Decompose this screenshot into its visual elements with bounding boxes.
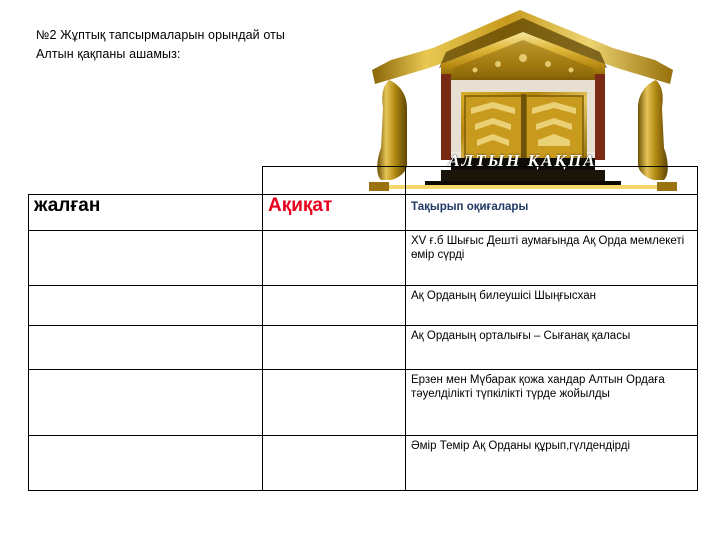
answer-cell-false[interactable] xyxy=(29,326,263,370)
spacer-cell-right xyxy=(406,167,698,195)
answer-cell-true[interactable] xyxy=(263,326,406,370)
topic-cell: XV ғ.б Шығыс Дешті аумағында Ақ Орда мем… xyxy=(406,231,698,286)
table-header-row: жалған Ақиқат Тақырып оқиғалары xyxy=(29,195,698,231)
gate-left-pillar xyxy=(377,80,407,180)
topic-cell: Әмір Темір Ақ Орданы құрып,гүлдендірді xyxy=(406,436,698,491)
heading-line-2: Алтын қақпаны ашамыз: xyxy=(36,45,376,64)
answer-cell-false[interactable] xyxy=(29,436,263,491)
spacer-cell-middle xyxy=(263,167,406,195)
table-row: Әмір Темір Ақ Орданы құрып,гүлдендірді xyxy=(29,436,698,491)
answer-cell-false[interactable] xyxy=(29,370,263,436)
topic-text: Әмір Темір Ақ Орданы құрып,гүлдендірді xyxy=(411,439,692,453)
topic-text: XV ғ.б Шығыс Дешті аумағында Ақ Орда мем… xyxy=(411,234,692,263)
header-label-topic: Тақырып оқиғалары xyxy=(411,196,692,214)
topic-cell: Ерзен мен Мүбарак қожа хандар Алтын Орда… xyxy=(406,370,698,436)
topic-text: Ақ Орданың билеушісі Шыңғысхан xyxy=(411,289,692,303)
spacer-cell-left xyxy=(29,167,263,195)
answer-cell-true[interactable] xyxy=(263,436,406,491)
slide-heading: №2 Жұптық тапсырмаларын орындай оты Алты… xyxy=(36,26,376,65)
answer-cell-true[interactable] xyxy=(263,370,406,436)
header-label-true: Ақиқат xyxy=(268,196,400,216)
header-cell-topic: Тақырып оқиғалары xyxy=(406,195,698,231)
table-spacer-row xyxy=(29,167,698,195)
table-row: Ерзен мен Мүбарак қожа хандар Алтын Орда… xyxy=(29,370,698,436)
slide-canvas: №2 Жұптық тапсырмаларын орындай оты Алты… xyxy=(0,0,720,540)
truth-false-table: жалған Ақиқат Тақырып оқиғалары XV ғ.б Ш… xyxy=(28,166,698,491)
answer-cell-false[interactable] xyxy=(29,231,263,286)
heading-line-1: №2 Жұптық тапсырмаларын орындай оты xyxy=(36,26,376,45)
table-row: XV ғ.б Шығыс Дешті аумағында Ақ Орда мем… xyxy=(29,231,698,286)
answer-cell-true[interactable] xyxy=(263,286,406,326)
topic-cell: Ақ Орданың билеушісі Шыңғысхан xyxy=(406,286,698,326)
topic-cell: Ақ Орданың орталығы – Сығанақ қаласы xyxy=(406,326,698,370)
table-row: Ақ Орданың орталығы – Сығанақ қаласы xyxy=(29,326,698,370)
header-cell-true: Ақиқат xyxy=(263,195,406,231)
gate-right-pillar xyxy=(638,80,668,180)
answer-cell-true[interactable] xyxy=(263,231,406,286)
header-label-false: жалған xyxy=(34,196,257,216)
topic-text: Ерзен мен Мүбарак қожа хандар Алтын Орда… xyxy=(411,373,692,402)
header-cell-false: жалған xyxy=(29,195,263,231)
table-row: Ақ Орданың билеушісі Шыңғысхан xyxy=(29,286,698,326)
answer-cell-false[interactable] xyxy=(29,286,263,326)
topic-text: Ақ Орданың орталығы – Сығанақ қаласы xyxy=(411,329,692,343)
truth-false-table-wrapper: жалған Ақиқат Тақырып оқиғалары XV ғ.б Ш… xyxy=(28,166,697,491)
